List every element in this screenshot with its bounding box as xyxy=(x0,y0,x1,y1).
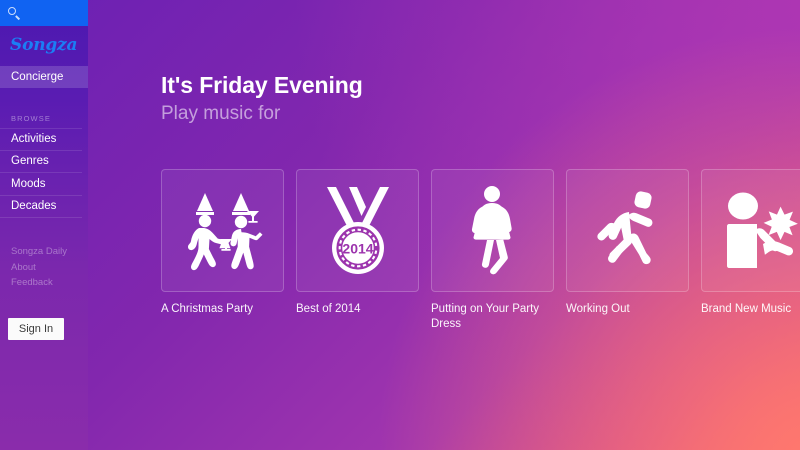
card-label: A Christmas Party xyxy=(161,302,279,317)
sidebar-item-label: Decades xyxy=(11,200,56,212)
sidebar-item-activities[interactable]: Activities xyxy=(0,128,82,151)
card-label: Putting on Your Party Dress xyxy=(431,302,549,332)
signin-container: Sign In xyxy=(8,318,64,340)
card-tile-best-of-2014[interactable]: 2014 xyxy=(296,169,419,292)
card-label: Best of 2014 xyxy=(296,302,414,317)
sidebar-item-label: Concierge xyxy=(11,71,63,83)
songza-app-window: Songza Concierge BROWSE Activities Genre… xyxy=(0,0,800,450)
sidebar-item-genres[interactable]: Genres xyxy=(0,151,82,174)
card-tile-brand-new-music[interactable] xyxy=(701,169,800,292)
card-label: Working Out xyxy=(566,302,684,317)
sidebar-item-label: Activities xyxy=(11,133,56,145)
sidebar: Songza Concierge BROWSE Activities Genre… xyxy=(0,0,88,450)
playlist-card[interactable]: Brand New Music xyxy=(701,169,800,332)
card-tile-working-out[interactable] xyxy=(566,169,689,292)
browse-nav-list: Activities Genres Moods Decades xyxy=(0,128,88,218)
person-with-sparkle-icon xyxy=(717,190,800,272)
card-label: Brand New Music xyxy=(701,302,800,317)
medal-icon: 2014 xyxy=(315,185,401,277)
footer-link-about[interactable]: About xyxy=(11,260,88,276)
footer-link-feedback[interactable]: Feedback xyxy=(11,275,88,291)
search-icon xyxy=(8,7,21,20)
running-person-icon xyxy=(585,190,671,272)
party-dancers-icon xyxy=(179,191,267,271)
sidebar-footer-links: Songza Daily About Feedback xyxy=(0,244,88,291)
search-bar[interactable] xyxy=(0,0,88,26)
page-subtitle: Play music for xyxy=(161,103,280,125)
search-input[interactable] xyxy=(25,6,85,20)
playlist-card[interactable]: A Christmas Party xyxy=(161,169,284,332)
card-tile-party-dress[interactable] xyxy=(431,169,554,292)
page-title: It's Friday Evening xyxy=(161,72,363,99)
playlist-card[interactable]: Working Out xyxy=(566,169,689,332)
sidebar-item-label: Genres xyxy=(11,155,49,167)
card-tile-christmas-party[interactable] xyxy=(161,169,284,292)
medal-year-text: 2014 xyxy=(342,240,373,256)
sign-in-button[interactable]: Sign In xyxy=(8,318,64,340)
footer-link-songza-daily[interactable]: Songza Daily xyxy=(11,244,88,260)
sidebar-item-concierge[interactable]: Concierge xyxy=(0,66,88,88)
sidebar-item-moods[interactable]: Moods xyxy=(0,173,82,196)
browse-section-label: BROWSE xyxy=(0,114,88,123)
playlist-card[interactable]: 2014 Best of 2014 xyxy=(296,169,419,332)
main-content: It's Friday Evening Play music for xyxy=(88,0,800,450)
sidebar-item-decades[interactable]: Decades xyxy=(0,196,82,219)
sidebar-item-label: Moods xyxy=(11,178,46,190)
playlist-card-row: A Christmas Party xyxy=(161,169,800,332)
songza-logo[interactable]: Songza xyxy=(0,26,88,54)
playlist-card[interactable]: Putting on Your Party Dress xyxy=(431,169,554,332)
woman-in-dress-icon xyxy=(462,185,524,277)
